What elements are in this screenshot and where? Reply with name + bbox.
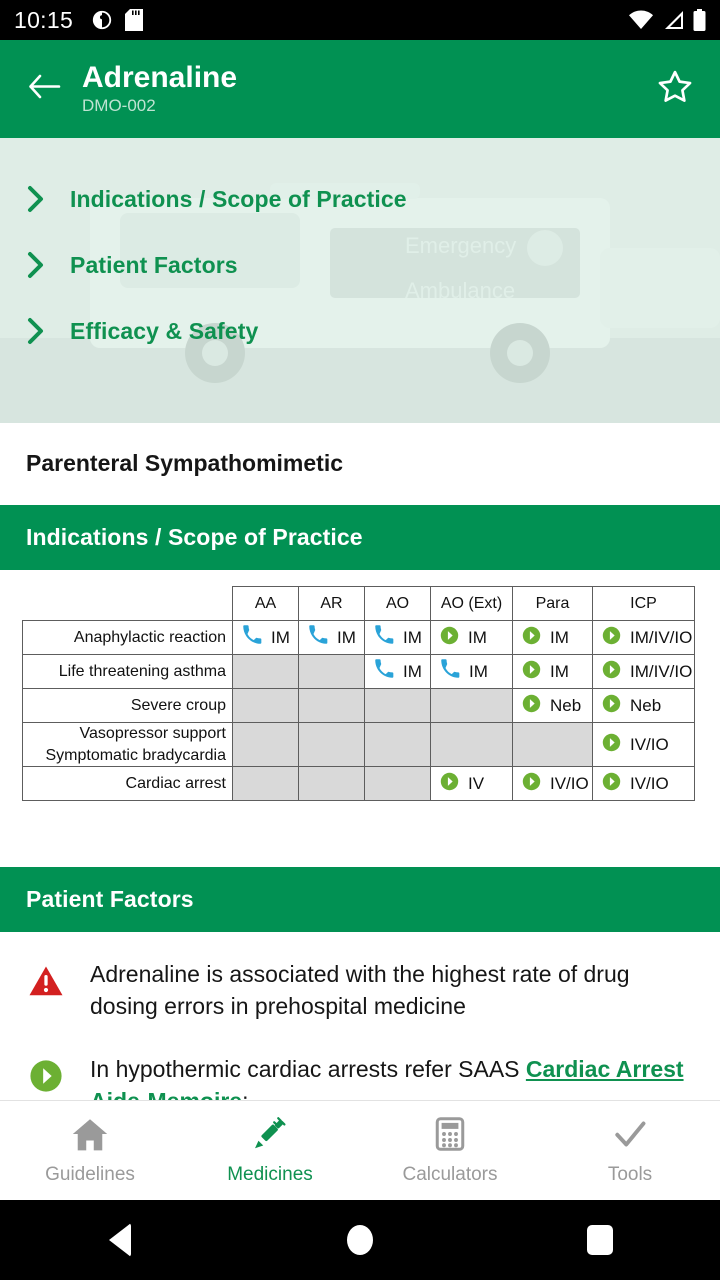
patient-factor-text-trail: : — [242, 1088, 248, 1100]
wifi-icon — [629, 10, 653, 30]
scroll-content[interactable]: Emergency Ambulance Indications / Scope … — [0, 138, 720, 1100]
quick-link-label: Indications / Scope of Practice — [70, 186, 407, 213]
quick-links-hero: Emergency Ambulance Indications / Scope … — [0, 138, 720, 423]
column-header-icp: ICP — [593, 587, 695, 621]
table-row-label: Anaphylactic reaction — [23, 621, 233, 655]
phone-icon — [308, 625, 328, 650]
arrow-circle-icon — [602, 626, 621, 650]
table-cell: IM — [365, 621, 431, 655]
android-nav-bar — [0, 1200, 720, 1280]
alarm-clock-icon — [91, 9, 113, 31]
bottom-tab-bar: Guidelines Medicines Calculators Tools — [0, 1100, 720, 1200]
table-row: Severe croupNebNeb — [23, 689, 695, 723]
drug-category: Parenteral Sympathomimetic — [0, 423, 720, 505]
table-cell-text: IM — [469, 662, 488, 682]
patient-factor-item: In hypothermic cardiac arrests refer SAA… — [24, 1053, 696, 1100]
phone-icon — [374, 625, 394, 650]
android-recents-button[interactable] — [540, 1225, 660, 1255]
table-cell — [431, 723, 513, 767]
page-subtitle: DMO-002 — [82, 95, 237, 117]
table-row-label: Cardiac arrest — [23, 767, 233, 801]
table-cell — [233, 723, 299, 767]
warning-triangle-icon — [24, 958, 68, 1022]
tab-calculators[interactable]: Calculators — [360, 1116, 540, 1186]
page-title: Adrenaline — [82, 61, 237, 95]
table-cell — [299, 655, 365, 689]
battery-icon — [693, 9, 706, 31]
table-cell — [299, 689, 365, 723]
table-row: Anaphylactic reactionIMIMIMIMIMIM/IV/IO — [23, 621, 695, 655]
arrow-circle-icon — [522, 626, 541, 650]
patient-factor-text: In hypothermic cardiac arrests refer SAA… — [90, 1053, 696, 1100]
section-header-indications: Indications / Scope of Practice — [0, 505, 720, 570]
table-cell-text: IM — [550, 662, 569, 682]
arrow-circle-icon — [602, 660, 621, 684]
table-cell: IM — [233, 621, 299, 655]
column-header-aa: AA — [233, 587, 299, 621]
app-bar-titles: Adrenaline DMO-002 — [82, 61, 237, 118]
table-corner-cell — [23, 587, 233, 621]
section-header-patient-factors: Patient Factors — [0, 867, 720, 932]
tab-tools[interactable]: Tools — [540, 1116, 720, 1186]
table-cell — [365, 767, 431, 801]
android-status-bar: 10:15 — [0, 0, 720, 40]
table-cell: IM — [513, 655, 593, 689]
table-cell-text: IM/IV/IO — [630, 628, 692, 648]
status-time: 10:15 — [14, 7, 73, 34]
arrow-circle-icon — [440, 626, 459, 650]
table-cell: IM/IV/IO — [593, 655, 695, 689]
android-home-icon — [347, 1225, 373, 1255]
table-row: Life threatening asthmaIMIMIMIM/IV/IO — [23, 655, 695, 689]
quick-link-efficacy-safety[interactable]: Efficacy & Safety — [26, 316, 720, 346]
table-cell: IV/IO — [513, 767, 593, 801]
table-cell-text: IM — [403, 662, 422, 682]
favourite-button[interactable] — [648, 68, 702, 111]
app-bar: Adrenaline DMO-002 — [0, 40, 720, 138]
table-row-label: Life threatening asthma — [23, 655, 233, 689]
arrow-circle-icon — [24, 1053, 68, 1100]
column-header-ao: AO — [365, 587, 431, 621]
table-cell-text: Neb — [550, 696, 581, 716]
table-row-label-line: Vasopressor support — [29, 723, 226, 745]
patient-factor-item: Adrenaline is associated with the highes… — [24, 958, 696, 1022]
table-cell: IV — [431, 767, 513, 801]
patient-factor-text: Adrenaline is associated with the highes… — [90, 958, 696, 1022]
phone-icon — [440, 659, 460, 684]
table-cell: IM — [431, 655, 513, 689]
table-cell: IM — [431, 621, 513, 655]
tab-label: Guidelines — [45, 1164, 135, 1186]
quick-link-patient-factors[interactable]: Patient Factors — [26, 250, 720, 280]
check-icon — [610, 1116, 650, 1157]
arrow-circle-icon — [440, 772, 459, 796]
table-row-label: Vasopressor supportSymptomatic bradycard… — [23, 723, 233, 767]
chevron-right-icon — [26, 184, 70, 214]
patient-factors-body: Adrenaline is associated with the highes… — [0, 932, 720, 1100]
tab-guidelines[interactable]: Guidelines — [0, 1116, 180, 1186]
chevron-right-icon — [26, 316, 70, 346]
android-recents-icon — [587, 1225, 613, 1255]
phone-icon — [242, 625, 262, 650]
chevron-right-icon — [26, 250, 70, 280]
android-back-icon — [109, 1223, 131, 1257]
status-left-icons — [91, 9, 143, 31]
quick-link-label: Efficacy & Safety — [70, 318, 258, 345]
star-outline-icon — [656, 68, 694, 111]
quick-link-indications[interactable]: Indications / Scope of Practice — [26, 184, 720, 214]
table-cell — [233, 655, 299, 689]
arrow-circle-icon — [602, 733, 621, 757]
arrow-circle-icon — [522, 694, 541, 718]
table-cell: IV/IO — [593, 767, 695, 801]
android-back-button[interactable] — [60, 1223, 180, 1257]
table-cell: IM/IV/IO — [593, 621, 695, 655]
tab-medicines[interactable]: Medicines — [180, 1116, 360, 1186]
indications-table: AA AR AO AO (Ext) Para ICP Anaphylactic … — [22, 586, 695, 801]
table-cell-text: IM — [468, 628, 487, 648]
cellular-signal-icon — [662, 10, 684, 30]
table-cell — [431, 689, 513, 723]
table-cell-text: IV — [468, 774, 484, 794]
syringe-icon — [250, 1116, 290, 1157]
calculator-icon — [430, 1116, 470, 1157]
arrow-circle-icon — [602, 772, 621, 796]
table-body: Anaphylactic reactionIMIMIMIMIMIM/IV/IOL… — [23, 621, 695, 801]
column-header-ao-ext: AO (Ext) — [431, 587, 513, 621]
quick-links-list: Indications / Scope of Practice Patient … — [0, 138, 720, 346]
arrow-circle-icon — [602, 694, 621, 718]
tab-label: Calculators — [402, 1164, 497, 1186]
table-cell — [365, 689, 431, 723]
tab-label: Tools — [608, 1164, 652, 1186]
table-cell — [299, 767, 365, 801]
table-cell — [233, 689, 299, 723]
table-cell: IM — [299, 621, 365, 655]
android-home-button[interactable] — [300, 1225, 420, 1255]
patient-factor-text-lead: In hypothermic cardiac arrests refer SAA… — [90, 1056, 526, 1082]
back-button[interactable] — [18, 73, 70, 106]
table-cell-text: IV/IO — [630, 735, 669, 755]
tab-label: Medicines — [227, 1164, 313, 1186]
table-cell-text: Neb — [630, 696, 661, 716]
table-cell-text: IV/IO — [550, 774, 589, 794]
home-icon — [70, 1116, 110, 1157]
table-cell: Neb — [513, 689, 593, 723]
table-row: Vasopressor supportSymptomatic bradycard… — [23, 723, 695, 767]
table-cell — [233, 767, 299, 801]
arrow-circle-icon — [522, 660, 541, 684]
table-cell-text: IV/IO — [630, 774, 669, 794]
phone-icon — [374, 659, 394, 684]
status-right-icons — [629, 9, 706, 31]
table-cell-text: IM — [550, 628, 569, 648]
indications-table-wrap: AA AR AO AO (Ext) Para ICP Anaphylactic … — [0, 570, 720, 801]
quick-link-label: Patient Factors — [70, 252, 238, 279]
table-cell: IM — [365, 655, 431, 689]
arrow-circle-icon — [522, 772, 541, 796]
table-cell: Neb — [593, 689, 695, 723]
table-row-label: Severe croup — [23, 689, 233, 723]
arrow-left-icon — [27, 73, 61, 106]
table-header-row: AA AR AO AO (Ext) Para ICP — [23, 587, 695, 621]
column-header-para: Para — [513, 587, 593, 621]
table-cell: IV/IO — [593, 723, 695, 767]
column-header-ar: AR — [299, 587, 365, 621]
table-cell-text: IM — [337, 628, 356, 648]
table-cell-text: IM — [271, 628, 290, 648]
table-row-label-line: Symptomatic bradycardia — [29, 745, 226, 767]
table-cell — [365, 723, 431, 767]
table-row: Cardiac arrestIVIV/IOIV/IO — [23, 767, 695, 801]
table-cell — [513, 723, 593, 767]
table-cell-text: IM — [403, 628, 422, 648]
table-cell — [299, 723, 365, 767]
table-cell: IM — [513, 621, 593, 655]
sd-card-icon — [125, 9, 143, 31]
table-cell-text: IM/IV/IO — [630, 662, 692, 682]
